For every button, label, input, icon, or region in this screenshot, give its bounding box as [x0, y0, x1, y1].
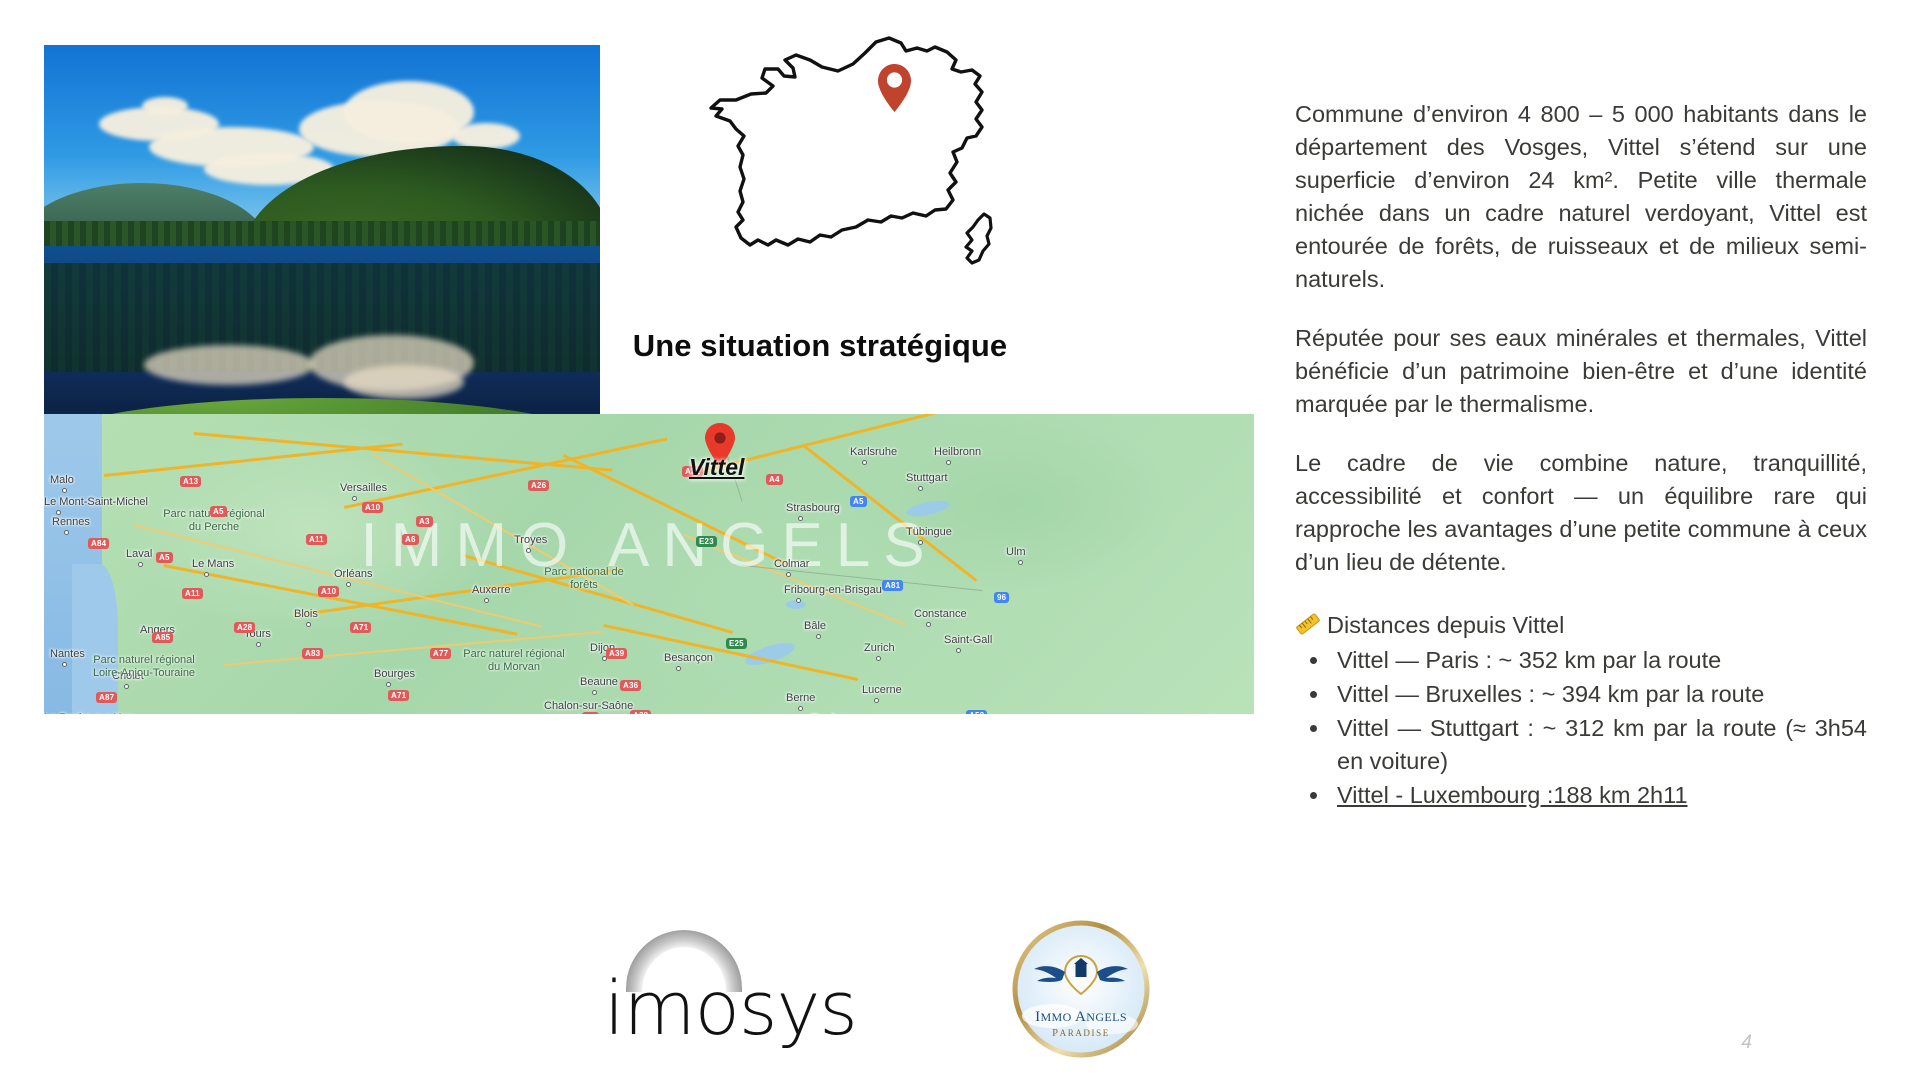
- route-map[interactable]: IMMO ANGELS VersaillesTroyesRennesLavalL…: [44, 414, 1254, 714]
- distance-item-label: Vittel — Paris : ~ 352 km par la route: [1337, 647, 1721, 673]
- map-road-shield: E23: [696, 536, 717, 547]
- map-city-dot: [62, 488, 67, 493]
- map-road-shield: A77: [430, 648, 451, 659]
- map-city-label: Le Mans: [192, 558, 234, 570]
- map-road-shield: A71: [350, 622, 371, 633]
- map-road-shield: A53: [966, 710, 987, 714]
- map-road-shield: A6: [402, 534, 419, 545]
- map-road-shield: A5: [850, 496, 867, 507]
- map-road-shield: A10: [318, 586, 339, 597]
- map-city-dot: [592, 690, 597, 695]
- map-city-label: Beaune: [580, 676, 618, 688]
- map-city-label: Le Mont-Saint-Michel: [44, 496, 148, 508]
- map-city-label: Rennes: [52, 516, 90, 528]
- angels-subtitle: PARADISE: [1052, 1028, 1110, 1039]
- distances-heading-label: Distances depuis Vittel: [1327, 609, 1564, 642]
- map-city-label: Berne: [786, 692, 815, 704]
- page-title: Une situation stratégique: [610, 328, 1030, 364]
- map-road-shield: E25: [726, 638, 747, 649]
- page-number: 4: [1741, 1032, 1752, 1054]
- imosys-wordmark: imosys: [604, 966, 857, 1052]
- map-city-dot: [386, 682, 391, 687]
- map-city-dot: [862, 460, 867, 465]
- map-city-dot: [526, 548, 531, 553]
- paragraph-lifestyle: Le cadre de vie combine nature, tranquil…: [1295, 447, 1867, 579]
- map-city-dot: [918, 486, 923, 491]
- map-city-dot: [786, 572, 791, 577]
- france-outline-map: [610, 24, 1030, 289]
- paragraph-thermal: Réputée pour ses eaux minérales et therm…: [1295, 322, 1867, 421]
- description-column: Commune d’environ 4 800 – 5 000 habitant…: [1295, 98, 1867, 813]
- cloud: [142, 97, 188, 115]
- map-city-label: Auxerre: [472, 584, 511, 596]
- distance-item: Vittel — Paris : ~ 352 km par la route: [1331, 644, 1867, 677]
- map-city-dot: [798, 516, 803, 521]
- map-road-shield: A36: [620, 680, 641, 691]
- map-city-label: Blois: [294, 608, 318, 620]
- map-city-label: Colmar: [774, 558, 809, 570]
- map-road-shield: A6: [582, 712, 599, 714]
- imosys-logo: imosys: [604, 930, 854, 1040]
- map-city-label: Saint-Gall: [944, 634, 992, 646]
- map-road-shield: A11: [306, 534, 327, 545]
- map-road-shield: A81: [882, 580, 903, 591]
- map-road-shield: A71: [388, 690, 409, 701]
- map-road-shield: A11: [182, 588, 203, 599]
- map-city-dot: [346, 582, 351, 587]
- corsica-border-path: [966, 214, 991, 263]
- map-road-shield: A84: [88, 538, 109, 549]
- cloud-reflection: [144, 345, 314, 385]
- map-city-dot: [256, 642, 261, 647]
- map-city-dot: [874, 698, 879, 703]
- paragraph-overview: Commune d’environ 4 800 – 5 000 habitant…: [1295, 98, 1867, 296]
- map-city-dot: [62, 662, 67, 667]
- map-city-label: Lucerne: [862, 684, 902, 696]
- map-road-shield: A39: [606, 648, 627, 659]
- map-city-label: Constance: [914, 608, 967, 620]
- map-road-shield: A5: [156, 552, 173, 563]
- map-city-label: Fribourg-en-Brisgau: [784, 584, 882, 596]
- slide-root: Une situation stratégique IMMO ANGELS Ve: [0, 0, 1920, 1080]
- map-city-label: Heilbronn: [934, 446, 981, 458]
- map-city-dot: [926, 622, 931, 627]
- map-city-dot: [64, 530, 69, 535]
- map-road-shield: A5: [210, 506, 227, 517]
- map-city-dot: [676, 666, 681, 671]
- distance-item-label: Vittel - Luxembourg :188 km 2h11: [1337, 782, 1688, 808]
- map-road-shield: A4: [766, 474, 783, 485]
- map-road-shield: A87: [96, 692, 117, 703]
- map-park-label: Parc naturel régional Loire-Anjou-Tourai…: [89, 654, 199, 679]
- map-city-dot: [306, 622, 311, 627]
- map-road-shield: A26: [528, 480, 549, 491]
- distance-item-label: Vittel — Bruxelles : ~ 394 km par la rou…: [1337, 681, 1764, 707]
- distance-item-label: Vittel — Stuttgart : ~ 312 km par la rou…: [1337, 715, 1867, 774]
- distances-list: Vittel — Paris : ~ 352 km par la routeVi…: [1331, 644, 1867, 812]
- map-city-label: Chalon-sur-Saône: [544, 700, 633, 712]
- map-city-dot: [796, 598, 801, 603]
- map-city-label: Versailles: [340, 482, 387, 494]
- map-road-shield: A3: [416, 516, 433, 527]
- map-city-label: Bâle: [804, 620, 826, 632]
- france-border-path: [711, 38, 982, 245]
- map-city-dot: [352, 496, 357, 501]
- immo-angels-paradise-logo: IMMO ANGELS PARADISE: [1012, 920, 1150, 1058]
- distance-item: Vittel — Bruxelles : ~ 394 km par la rou…: [1331, 678, 1867, 711]
- map-park-label: Parc national de forêts: [529, 566, 639, 591]
- lake-forest-landscape-photo: [44, 45, 600, 464]
- map-road-shield: A39: [630, 710, 651, 714]
- map-city-label: Zurich: [864, 642, 895, 654]
- map-city-dot: [876, 656, 881, 661]
- distance-item: Vittel - Luxembourg :188 km 2h11: [1331, 779, 1867, 812]
- map-road-shield: A85: [152, 632, 173, 643]
- map-city-label: Troyes: [514, 534, 547, 546]
- map-city-label: Malo: [50, 474, 74, 486]
- map-city-label: La Roche-sur-Yon: [44, 712, 132, 714]
- map-city-dot: [1018, 560, 1023, 565]
- map-road-shield: A83: [302, 648, 323, 659]
- vittel-map-label: Vittel: [689, 454, 744, 481]
- map-city-dot: [124, 684, 129, 689]
- map-city-dot: [138, 562, 143, 567]
- map-city-label: Karlsruhe: [850, 446, 897, 458]
- ruler-icon: [1295, 611, 1321, 637]
- cloud-reflection: [344, 365, 464, 399]
- map-city-label: Strasbourg: [786, 502, 840, 514]
- map-city-label: Besançon: [664, 652, 713, 664]
- map-city-dot: [918, 540, 923, 545]
- map-city-label: Orléans: [334, 568, 373, 580]
- map-road-shield: A28: [234, 622, 255, 633]
- map-city-dot: [56, 510, 61, 515]
- angels-wordmark: IMMO ANGELS: [1035, 1009, 1127, 1025]
- map-city-dot: [816, 634, 821, 639]
- map-city-dot: [946, 460, 951, 465]
- map-park-label: Parc naturel régional du Morvan: [459, 648, 569, 673]
- map-city-dot: [798, 706, 803, 711]
- map-road-shield: A10: [362, 502, 383, 513]
- map-city-label: Tübingue: [906, 526, 952, 538]
- map-city-label: Ulm: [1006, 546, 1026, 558]
- map-city-dot: [484, 598, 489, 603]
- map-city-dot: [956, 648, 961, 653]
- map-city-label: Nantes: [50, 648, 85, 660]
- map-road-shield: A13: [180, 476, 201, 487]
- map-city-label: Bourges: [374, 668, 415, 680]
- distances-heading-row: Distances depuis Vittel: [1295, 609, 1867, 642]
- map-country-label: Suisse: [809, 711, 864, 714]
- map-road-shield: 96: [994, 592, 1009, 603]
- map-city-label: Laval: [126, 548, 152, 560]
- map-city-dot: [204, 572, 209, 577]
- map-city-label: Stuttgart: [906, 472, 948, 484]
- distance-item: Vittel — Stuttgart : ~ 312 km par la rou…: [1331, 712, 1867, 778]
